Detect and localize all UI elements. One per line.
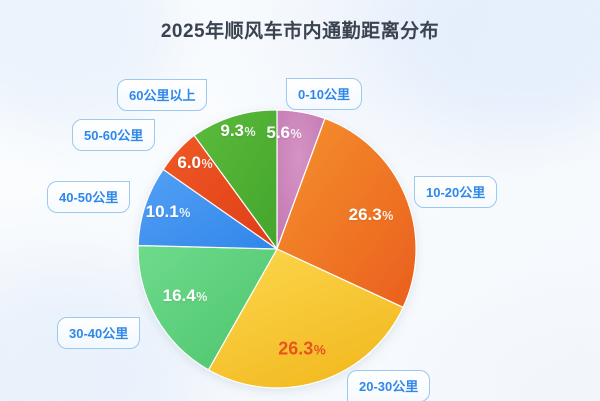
pie-value-0-10-number: 5.6 — [266, 123, 290, 142]
percent-sign: % — [179, 206, 190, 220]
pie-value-40-50: 10.1% — [146, 202, 191, 222]
pie-label-20-30[interactable]: 20-30公里 — [347, 370, 430, 401]
percent-sign: % — [202, 157, 213, 171]
pie-value-60-up: 9.3% — [220, 121, 255, 141]
pie-value-50-60: 6.0% — [177, 153, 212, 173]
percent-sign: % — [382, 209, 393, 223]
percent-sign: % — [196, 290, 207, 304]
pie-label-40-50[interactable]: 40-50公里 — [47, 181, 130, 213]
pie-label-10-20[interactable]: 10-20公里 — [414, 176, 497, 208]
pie-value-30-40-number: 16.4 — [163, 286, 196, 305]
pie-slices — [138, 110, 416, 388]
pie-value-30-40: 16.4% — [163, 286, 208, 306]
pie-value-20-30: 26.3% — [278, 339, 326, 360]
pie-value-50-60-number: 6.0 — [177, 153, 201, 172]
pie-label-30-40[interactable]: 30-40公里 — [57, 317, 140, 349]
percent-sign: % — [245, 125, 256, 139]
pie-label-0-10[interactable]: 0-10公里 — [286, 78, 362, 110]
pie-label-50-60[interactable]: 50-60公里 — [72, 119, 155, 151]
pie-value-10-20-number: 26.3 — [349, 205, 382, 224]
pie-value-0-10: 5.6% — [266, 123, 301, 143]
pie-value-60-up-number: 9.3 — [220, 121, 244, 140]
pie-value-20-30-number: 26.3 — [278, 339, 313, 359]
chart-canvas: 2025年顺风车市内通勤距离分布 — [0, 0, 600, 401]
percent-sign: % — [314, 343, 326, 358]
pie-value-40-50-number: 10.1 — [146, 202, 179, 221]
percent-sign: % — [291, 127, 302, 141]
pie-label-60-up[interactable]: 60公里以上 — [117, 79, 207, 111]
pie-value-10-20: 26.3% — [349, 205, 394, 225]
